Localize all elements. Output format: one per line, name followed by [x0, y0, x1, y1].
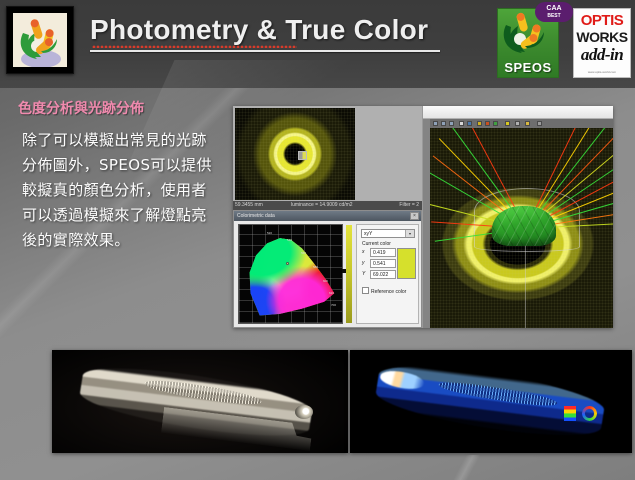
luminance-map-image — [235, 108, 355, 200]
works-wordmark: WORKS — [574, 29, 630, 45]
false-color-led-patch — [564, 406, 576, 421]
ray-display-icon[interactable] — [477, 121, 482, 126]
addin-script-wordmark: add-in — [574, 45, 630, 65]
lamp-true-color-photo — [52, 350, 348, 453]
caa-badge-sub: BEST — [535, 13, 573, 19]
status-filter: Filter = 2 — [399, 201, 419, 210]
field-key-bigY: Y — [362, 271, 365, 277]
section-body-text: 除了可以模擬出常見的光跡分佈圖外，SPEOS可以提供較擬真的顏色分析，使用者可以… — [22, 128, 218, 253]
page-title: Photometry & True Color — [90, 14, 428, 46]
cie-tick-520: 520 — [267, 231, 272, 235]
field-value-bigY[interactable]: 69.022 — [370, 270, 396, 279]
field-value-y[interactable]: 0.541 — [370, 259, 396, 268]
color-space-value: xyY — [364, 231, 372, 237]
reference-color-label: Reference color — [371, 289, 406, 295]
sensor-icon[interactable] — [505, 121, 510, 126]
cie-tick-560: 560 — [301, 251, 306, 255]
measure-icon[interactable] — [515, 121, 520, 126]
zoom-icon[interactable] — [433, 121, 438, 126]
false-color-lamp-body — [373, 356, 607, 445]
title-underline — [90, 50, 440, 52]
caa-badge-main: CAA — [546, 5, 561, 12]
pan-icon[interactable] — [441, 121, 446, 126]
cie-chromaticity-diagram[interactable]: 520 540 560 580 600 620 700 — [238, 224, 343, 324]
measurement-cursor[interactable] — [298, 151, 307, 160]
status-position: 59.3455 mm — [235, 201, 263, 210]
scale-marker[interactable] — [342, 269, 346, 273]
dialog-titlebar[interactable]: Colorimetric data × — [234, 211, 421, 221]
software-screenshot-composite: 59.3455 mm luminance = 14.9009 cd/m2 Fil… — [233, 106, 613, 328]
cie-tick-700: 700 — [331, 303, 336, 307]
field-value-x[interactable]: 0.419 — [370, 248, 396, 257]
optis-works-logo: OPTIS WORKS add-in www.optis-world.com — [573, 8, 631, 78]
ray-trace-pane — [423, 106, 613, 328]
field-key-x: x — [362, 249, 365, 255]
speos-symbol-icon — [13, 13, 67, 67]
dialog-title: Colorimetric data — [237, 213, 275, 219]
led-lens-geometry — [492, 206, 556, 246]
reference-color-checkbox[interactable]: Reference color — [362, 287, 406, 295]
ray-pane-titlebar — [423, 106, 613, 119]
optis-fine-print: www.optis-world.com — [576, 70, 628, 74]
section-subheading: 色度分析與光跡分佈 — [18, 100, 223, 118]
checkbox-box-icon[interactable] — [362, 287, 369, 294]
slide-canvas: Photometry & True Color SPEOS CAABEST — [0, 0, 635, 480]
speos-logo-wordmark: SPEOS — [498, 60, 558, 75]
false-color-ring — [582, 406, 597, 421]
spellcheck-squiggle — [92, 44, 297, 48]
lamp-end-cap — [295, 405, 313, 419]
lens-facets — [492, 206, 556, 246]
ray-trace-viewport[interactable] — [430, 128, 613, 328]
corner-speos-logo — [6, 6, 74, 74]
bottom-diagonal-highlight — [300, 455, 635, 480]
field-key-y: y — [362, 260, 365, 266]
luminance-map-pane: 59.3455 mm luminance = 14.9009 cd/m2 Fil… — [233, 106, 422, 210]
geometry-icon[interactable] — [493, 121, 498, 126]
rotate-icon[interactable] — [449, 121, 454, 126]
cie-tick-600: 600 — [323, 279, 328, 283]
luminance-status-bar: 59.3455 mm luminance = 14.9009 cd/m2 Fil… — [233, 201, 422, 210]
cie-tick-540: 540 — [287, 238, 292, 242]
caa-v5-badge: CAABEST — [535, 2, 573, 22]
settings-icon[interactable] — [537, 121, 542, 126]
fit-icon[interactable] — [459, 121, 464, 126]
color-scale-strip — [346, 225, 352, 323]
source-icon[interactable] — [485, 121, 490, 126]
cie-tick-580: 580 — [313, 265, 318, 269]
vertical-axis-line — [525, 246, 526, 328]
corner-logo-inner — [13, 13, 67, 67]
current-color-marker[interactable] — [286, 262, 289, 265]
cie-tick-620: 620 — [329, 291, 334, 295]
current-color-swatch — [397, 248, 416, 279]
dialog-right-panel: xyY ▾ Current color x 0.419 y 0.541 Y 69… — [356, 224, 419, 324]
luminance-noise-overlay — [235, 108, 355, 200]
render-icon[interactable] — [467, 121, 472, 126]
lamp-false-color-luminance-photo — [350, 350, 632, 453]
current-color-label: Current color — [362, 241, 391, 247]
ray-pane-toolbar[interactable] — [430, 119, 613, 128]
optis-wordmark: OPTIS — [574, 12, 630, 29]
color-space-select[interactable]: xyY ▾ — [361, 229, 415, 238]
simulation-icon[interactable] — [525, 121, 530, 126]
close-icon[interactable]: × — [410, 212, 419, 220]
colorimetric-data-dialog[interactable]: Colorimetric data × 520 540 560 580 600 … — [233, 210, 422, 328]
status-luminance-value: luminance = 14.9009 cd/m2 — [291, 201, 353, 210]
chevron-down-icon[interactable]: ▾ — [405, 230, 414, 237]
